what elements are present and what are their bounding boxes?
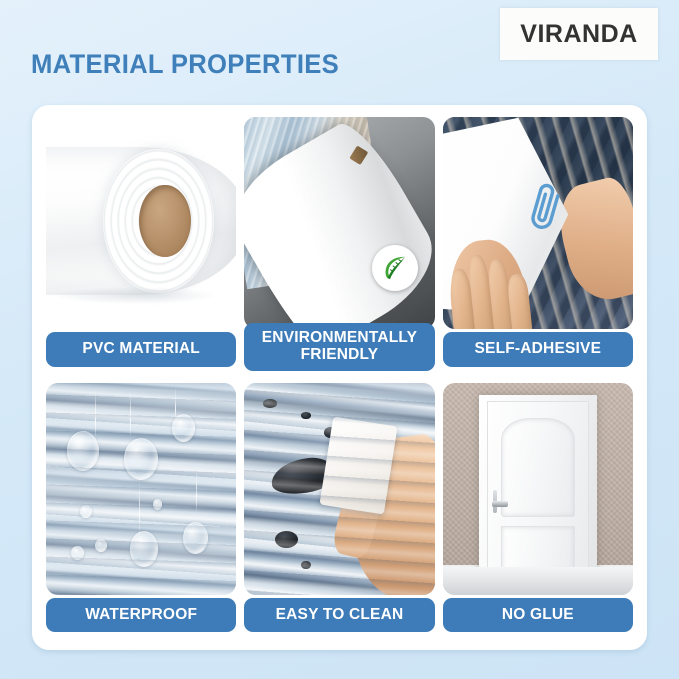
door-panel-top: [501, 418, 575, 517]
pvc-roll-image: [46, 117, 236, 329]
feature-card-environmentally-friendly[interactable]: ENVIRONMENTALLY FRIENDLY: [244, 117, 434, 373]
card-label-easy-to-clean: EASY TO CLEAN: [244, 598, 434, 632]
roll-shadow: [54, 287, 218, 304]
self-adhesive-image: [443, 117, 633, 329]
feature-card-waterproof[interactable]: WATERPROOF: [46, 383, 236, 639]
no-glue-image: [443, 383, 633, 595]
card-label-pvc-material: PVC MATERIAL: [46, 332, 236, 366]
feature-card-easy-to-clean[interactable]: EASY TO CLEAN: [244, 383, 434, 639]
hand-shape: [340, 432, 434, 595]
waterproof-image: [46, 383, 236, 595]
card-label-waterproof: WATERPROOF: [46, 598, 236, 632]
card-label-self-adhesive: SELF-ADHESIVE: [443, 332, 633, 366]
brand-logo: VIRANDA: [500, 8, 658, 60]
door-panel-bottom: [501, 526, 575, 572]
card-label-no-glue: NO GLUE: [443, 598, 633, 632]
floor-strip: [443, 567, 633, 595]
feature-card-self-adhesive[interactable]: SELF-ADHESIVE: [443, 117, 633, 373]
eco-peel-image: [244, 117, 434, 329]
feature-card-no-glue[interactable]: NO GLUE: [443, 383, 633, 639]
door-handle: [492, 501, 508, 507]
roll-core-shape: [139, 185, 190, 257]
card-label-environmentally-friendly: ENVIRONMENTALLY FRIENDLY: [244, 323, 434, 371]
door-frame: [479, 395, 597, 582]
infographic-page: VIRANDA MATERIAL PROPERTIES PVC MATERIAL: [0, 0, 679, 679]
large-stain-shape: [269, 454, 338, 498]
page-title: MATERIAL PROPERTIES: [31, 49, 339, 80]
leaf-icon: [372, 245, 418, 291]
door-leaf: [487, 401, 588, 580]
brand-name: VIRANDA: [520, 20, 637, 49]
cleaning-cloth-shape: [320, 416, 398, 514]
feature-card-pvc-material[interactable]: PVC MATERIAL: [46, 117, 236, 373]
cards-panel: PVC MATERIAL: [32, 105, 647, 650]
feature-grid: PVC MATERIAL: [46, 117, 633, 638]
easy-to-clean-image: [244, 383, 434, 595]
eco-curl-tip: [349, 146, 368, 165]
thumb-shape: [330, 468, 387, 559]
